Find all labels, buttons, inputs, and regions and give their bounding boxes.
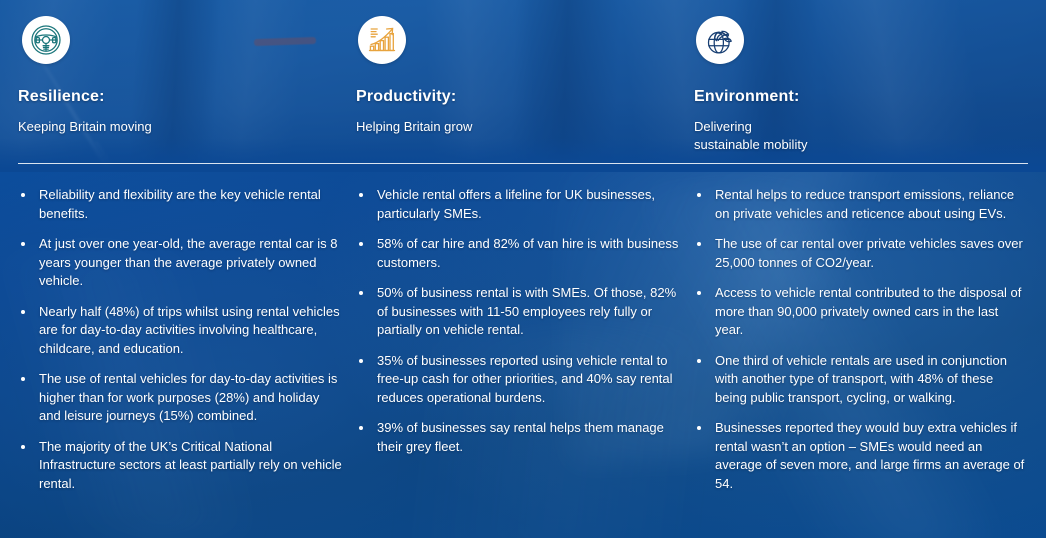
- list-item-text: The use of car rental over private vehic…: [715, 236, 1023, 270]
- bullet-dot-icon: [359, 359, 363, 363]
- bullet-dot-icon: [21, 445, 25, 449]
- resilience-icon-badge: [22, 16, 70, 64]
- column-title-environment: Environment:: [694, 88, 800, 106]
- bullet-dot-icon: [697, 426, 701, 430]
- list-item: 50% of business rental is with SMEs. Of …: [356, 284, 682, 340]
- column-title-resilience: Resilience:: [18, 88, 105, 106]
- bullet-list-environment: Rental helps to reduce transport emissio…: [694, 186, 1028, 493]
- list-item-text: The majority of the UK’s Critical Nation…: [39, 439, 342, 491]
- list-item-text: Access to vehicle rental contributed to …: [715, 285, 1021, 337]
- list-item: Reliability and flexibility are the key …: [18, 186, 342, 223]
- bullet-dot-icon: [359, 426, 363, 430]
- list-item: At just over one year-old, the average r…: [18, 235, 342, 291]
- list-item-text: 58% of car hire and 82% of van hire is w…: [377, 236, 678, 270]
- list-item-text: The use of rental vehicles for day-to-da…: [39, 371, 337, 423]
- horizontal-divider: [18, 163, 1028, 164]
- list-item-text: Businesses reported they would buy extra…: [715, 420, 1024, 491]
- list-item-text: Nearly half (48%) of trips whilst using …: [39, 304, 340, 356]
- column-body-environment: Rental helps to reduce transport emissio…: [694, 186, 1028, 493]
- bullet-dot-icon: [697, 359, 701, 363]
- list-item: The use of car rental over private vehic…: [694, 235, 1028, 272]
- list-item-text: One third of vehicle rentals are used in…: [715, 353, 1007, 405]
- column-body-resilience: Reliability and flexibility are the key …: [18, 186, 342, 493]
- list-item-text: 35% of businesses reported using vehicle…: [377, 353, 673, 405]
- list-item-text: At just over one year-old, the average r…: [39, 236, 337, 288]
- bullet-dot-icon: [359, 193, 363, 197]
- bullet-dot-icon: [697, 193, 701, 197]
- productivity-icon-badge: [358, 16, 406, 64]
- list-item-text: Reliability and flexibility are the key …: [39, 187, 321, 221]
- list-item-text: Rental helps to reduce transport emissio…: [715, 187, 1014, 221]
- bullet-dot-icon: [697, 242, 701, 246]
- bullet-list-productivity: Vehicle rental offers a lifeline for UK …: [356, 186, 682, 456]
- bullet-dot-icon: [21, 377, 25, 381]
- column-body-productivity: Vehicle rental offers a lifeline for UK …: [356, 186, 682, 456]
- list-item: One third of vehicle rentals are used in…: [694, 352, 1028, 408]
- bullet-dot-icon: [21, 310, 25, 314]
- list-item: Rental helps to reduce transport emissio…: [694, 186, 1028, 223]
- slide-root: Resilience: Keeping Britain moving Produ…: [0, 0, 1046, 538]
- bullet-dot-icon: [359, 242, 363, 246]
- list-item: Nearly half (48%) of trips whilst using …: [18, 303, 342, 359]
- list-item: 58% of car hire and 82% of van hire is w…: [356, 235, 682, 272]
- bullet-dot-icon: [21, 242, 25, 246]
- list-item-text: Vehicle rental offers a lifeline for UK …: [377, 187, 655, 221]
- list-item: The majority of the UK’s Critical Nation…: [18, 438, 342, 494]
- list-item: Access to vehicle rental contributed to …: [694, 284, 1028, 340]
- list-item: Vehicle rental offers a lifeline for UK …: [356, 186, 682, 223]
- list-item: Businesses reported they would buy extra…: [694, 419, 1028, 493]
- bullet-dot-icon: [697, 291, 701, 295]
- environment-icon-badge: [696, 16, 744, 64]
- list-item: 35% of businesses reported using vehicle…: [356, 352, 682, 408]
- list-item: The use of rental vehicles for day-to-da…: [18, 370, 342, 426]
- steering-wheel-icon: [30, 24, 62, 56]
- globe-leaf-icon: [704, 24, 736, 56]
- bullet-dot-icon: [359, 291, 363, 295]
- column-subtitle-productivity: Helping Britain grow: [356, 118, 656, 136]
- list-item: 39% of businesses say rental helps them …: [356, 419, 682, 456]
- growth-chart-icon: [366, 24, 398, 56]
- bullet-dot-icon: [21, 193, 25, 197]
- column-subtitle-environment: Delivering sustainable mobility: [694, 118, 1014, 154]
- column-title-productivity: Productivity:: [356, 88, 456, 106]
- list-item-text: 39% of businesses say rental helps them …: [377, 420, 664, 454]
- bullet-list-resilience: Reliability and flexibility are the key …: [18, 186, 342, 493]
- column-subtitle-resilience: Keeping Britain moving: [18, 118, 318, 136]
- list-item-text: 50% of business rental is with SMEs. Of …: [377, 285, 676, 337]
